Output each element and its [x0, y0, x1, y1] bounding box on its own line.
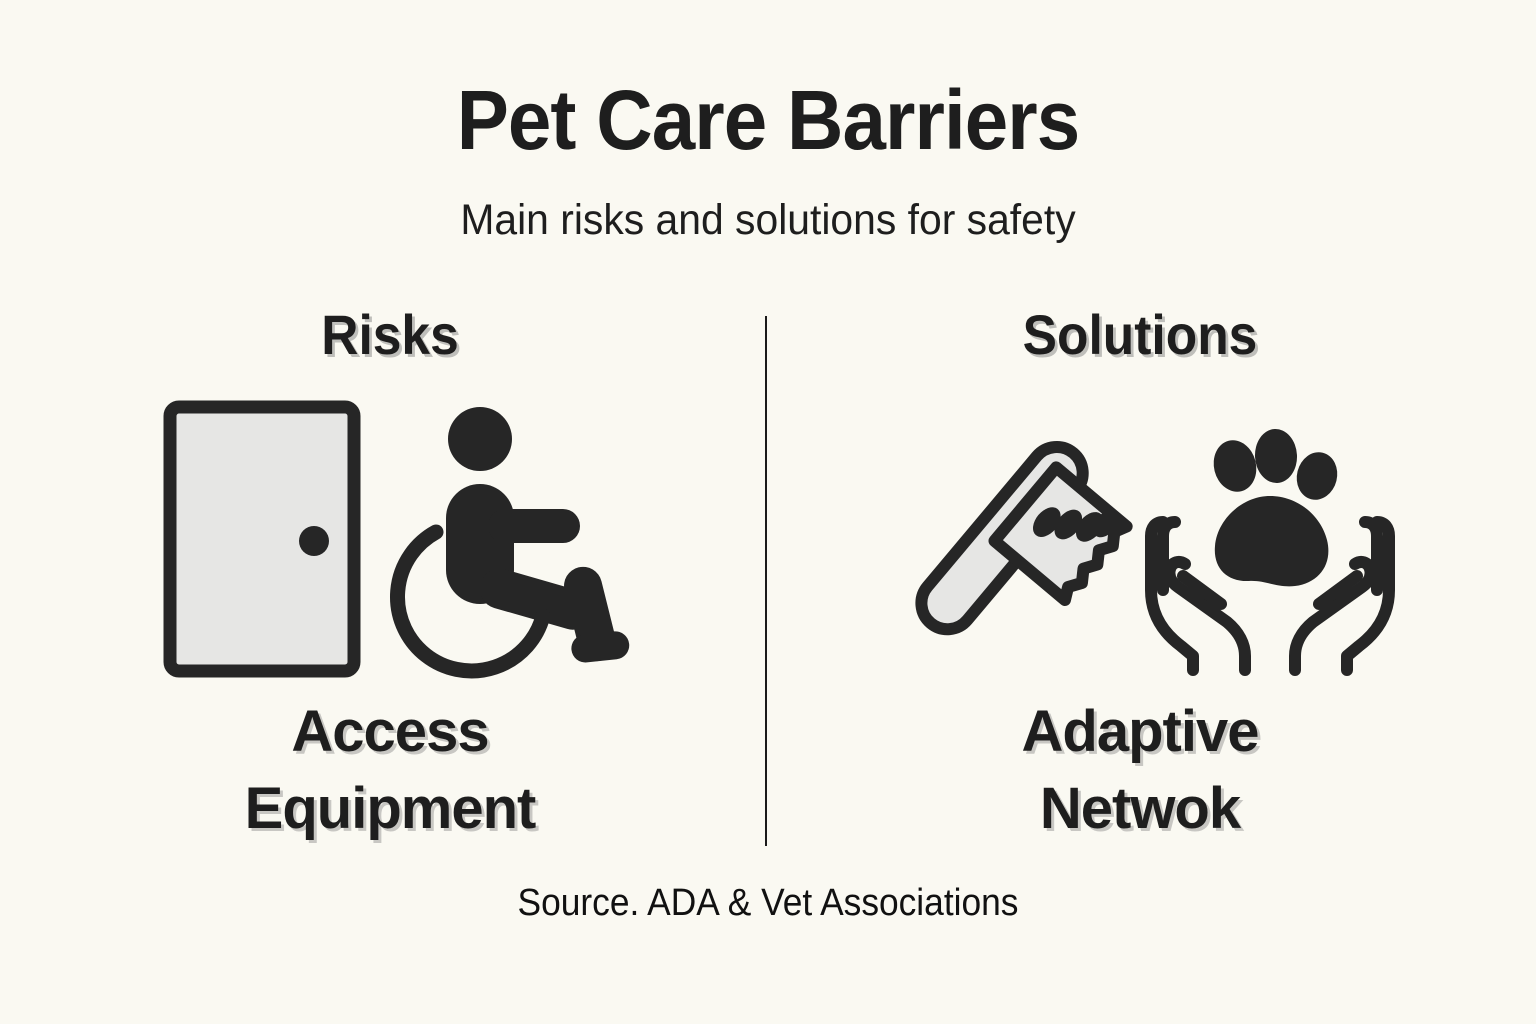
column-label-risks: Access Equipment [40, 694, 740, 847]
door-icon [162, 399, 362, 679]
page-subtitle: Main risks and solutions for safety [38, 196, 1497, 245]
column-label-solutions-line1: Adaptive [790, 694, 1490, 771]
page-title: Pet Care Barriers [54, 72, 1482, 169]
column-label-risks-line2: Equipment [40, 771, 740, 848]
column-risks: Risks [40, 302, 740, 862]
icon-row-risks [40, 394, 740, 684]
icon-row-solutions [790, 394, 1490, 684]
column-divider [765, 316, 767, 846]
grooming-brush-icon [875, 404, 1125, 674]
wheelchair-accessibility-icon [388, 404, 618, 674]
column-heading-risks: Risks [68, 302, 712, 367]
column-label-solutions-line2: Netwok [790, 771, 1490, 848]
column-label-solutions: Adaptive Netwok [790, 694, 1490, 847]
source-caption: Source. ADA & Vet Associations [54, 882, 1482, 925]
hands-holding-paw-icon [1135, 404, 1405, 674]
column-label-risks-line1: Access [40, 694, 740, 771]
column-solutions: Solutions [790, 302, 1490, 862]
infographic-canvas: Pet Care Barriers Main risks and solutio… [0, 0, 1536, 1024]
column-heading-solutions: Solutions [818, 302, 1462, 367]
